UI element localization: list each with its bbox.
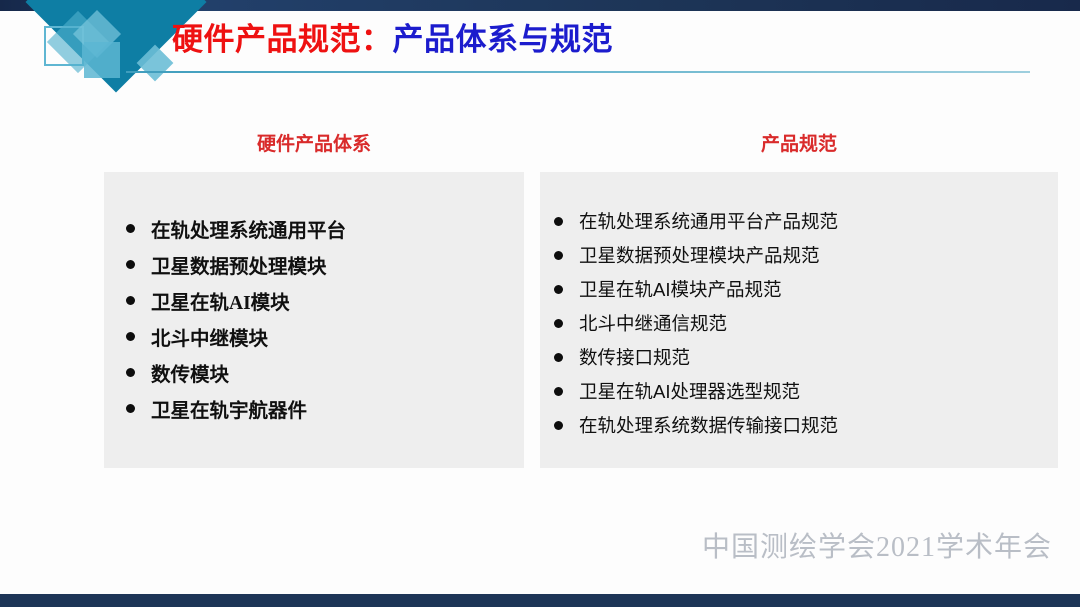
list-item-label: 卫星数据预处理模块 — [151, 250, 327, 279]
list-item-label: 在轨处理系统通用平台产品规范 — [579, 208, 838, 234]
list-item-label: 在轨处理系统通用平台 — [151, 214, 346, 243]
bullet-icon — [554, 285, 563, 294]
list-item-label: 卫星在轨AI模块产品规范 — [579, 276, 781, 302]
list-item: 数传模块 — [126, 354, 524, 390]
bullet-icon — [126, 260, 135, 269]
title-underline-rule — [126, 71, 1030, 73]
list-item: 北斗中继通信规范 — [554, 306, 1058, 340]
list-item: 在轨处理系统数据传输接口规范 — [554, 408, 1058, 442]
bullet-icon — [554, 319, 563, 328]
list-item: 数传接口规范 — [554, 340, 1058, 374]
slide-canvas: 硬件产品规范：产品体系与规范 硬件产品体系 在轨处理系统通用平台 卫星数据预处理… — [0, 0, 1080, 607]
slide-title-blue-part: 产品体系与规范 — [393, 22, 614, 57]
slide-title-red-part: 硬件产品规范： — [172, 22, 393, 57]
panel-hardware-system: 在轨处理系统通用平台 卫星数据预处理模块 卫星在轨AI模块 北斗中继模块 数传模… — [104, 172, 524, 468]
list-item: 卫星数据预处理模块产品规范 — [554, 238, 1058, 272]
bullet-icon — [554, 387, 563, 396]
list-item-label: 北斗中继模块 — [151, 322, 268, 351]
list-item-label: 卫星在轨宇航器件 — [151, 394, 307, 423]
list-item: 卫星在轨AI处理器选型规范 — [554, 374, 1058, 408]
translucent-square-icon-3 — [84, 42, 120, 78]
list-hardware-system: 在轨处理系统通用平台 卫星数据预处理模块 卫星在轨AI模块 北斗中继模块 数传模… — [104, 172, 524, 426]
bullet-icon — [554, 421, 563, 430]
bullet-icon — [554, 217, 563, 226]
list-item: 卫星在轨宇航器件 — [126, 390, 524, 426]
list-item: 卫星在轨AI模块 — [126, 282, 524, 318]
list-item: 在轨处理系统通用平台 — [126, 210, 524, 246]
list-item-label: 卫星数据预处理模块产品规范 — [579, 242, 820, 268]
bullet-icon — [554, 353, 563, 362]
bullet-icon — [126, 368, 135, 377]
footer-conference-name: 中国测绘学会2021学术年会 — [702, 525, 1052, 565]
panel-product-spec: 在轨处理系统通用平台产品规范 卫星数据预处理模块产品规范 卫星在轨AI模块产品规… — [540, 172, 1058, 468]
list-item-label: 数传接口规范 — [579, 344, 690, 370]
list-item-label: 在轨处理系统数据传输接口规范 — [579, 412, 838, 438]
list-product-spec: 在轨处理系统通用平台产品规范 卫星数据预处理模块产品规范 卫星在轨AI模块产品规… — [540, 172, 1058, 442]
bottom-navy-bar — [0, 594, 1080, 607]
slide-title: 硬件产品规范：产品体系与规范 — [172, 23, 613, 57]
bullet-icon — [126, 332, 135, 341]
bullet-icon — [554, 251, 563, 260]
list-item: 在轨处理系统通用平台产品规范 — [554, 204, 1058, 238]
list-item-label: 北斗中继通信规范 — [579, 310, 727, 336]
list-item: 卫星数据预处理模块 — [126, 246, 524, 282]
column-heading-product-spec: 产品规范 — [540, 129, 1058, 156]
list-item-label: 数传模块 — [151, 358, 229, 387]
column-heading-hardware-system: 硬件产品体系 — [104, 129, 524, 156]
bullet-icon — [126, 224, 135, 233]
bullet-icon — [126, 404, 135, 413]
list-item: 北斗中继模块 — [126, 318, 524, 354]
bullet-icon — [126, 296, 135, 305]
list-item-label: 卫星在轨AI模块 — [151, 286, 290, 315]
list-item: 卫星在轨AI模块产品规范 — [554, 272, 1058, 306]
list-item-label: 卫星在轨AI处理器选型规范 — [579, 378, 800, 404]
